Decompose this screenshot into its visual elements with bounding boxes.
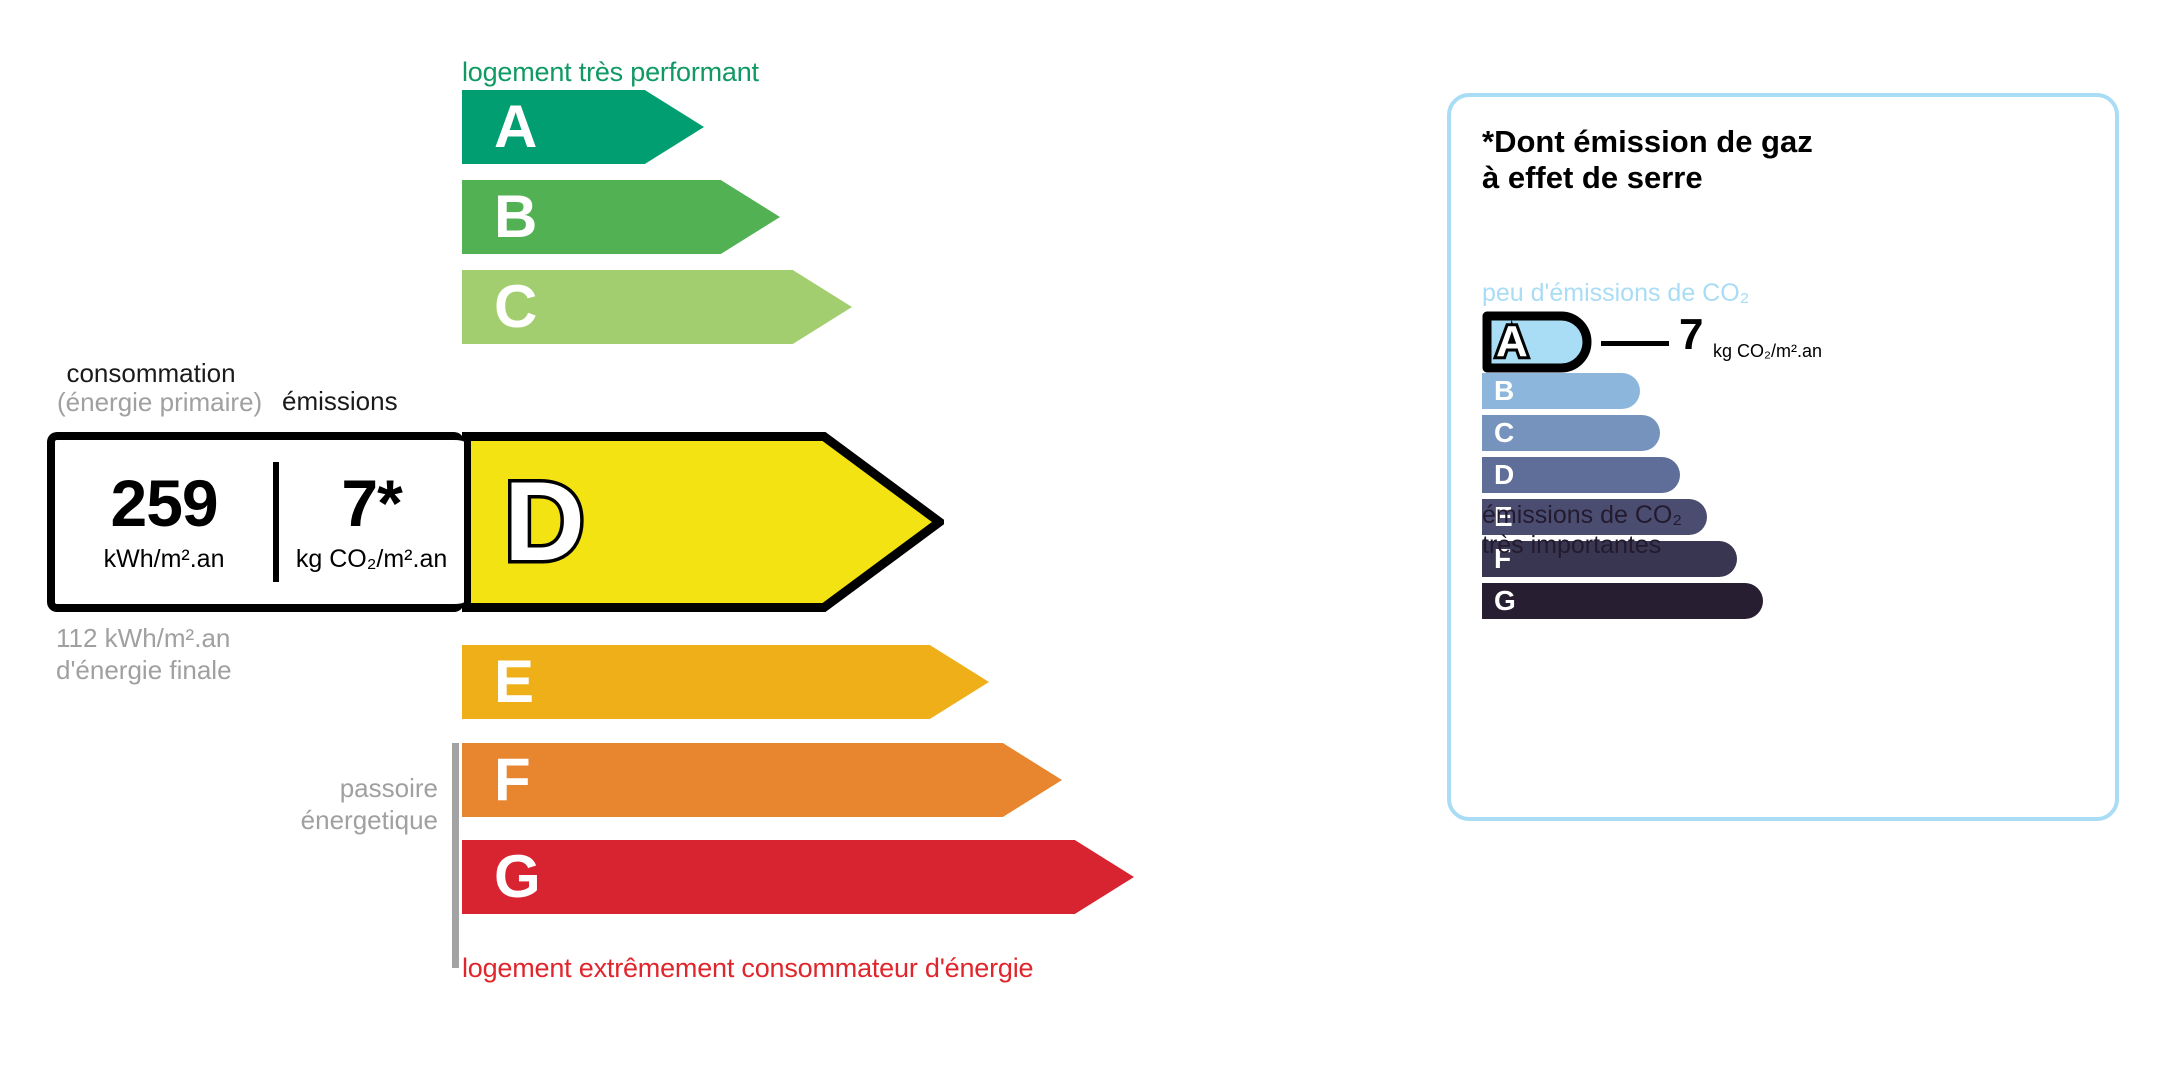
- co2-bar-g: G: [1482, 583, 1763, 619]
- ges-current-unit: kg CO₂/m².an: [1713, 341, 1822, 362]
- ges-caption-bottom: émissions de CO₂très importantes: [1482, 501, 1682, 560]
- co2-bar-letter-g: G: [1494, 587, 1516, 615]
- consumption-value: 259: [111, 470, 218, 536]
- co2-bar-d: D: [1482, 457, 1680, 493]
- consumption-header-sub: (énergie primaire): [57, 388, 245, 417]
- co2-bar-letter-d: D: [1494, 461, 1514, 489]
- consumption-header-main: consommation: [66, 358, 235, 388]
- arrow-letter-e: E: [494, 652, 534, 712]
- emissions-value: 7*: [341, 470, 401, 536]
- emissions-cell: 7* kg CO₂/m².an: [279, 440, 464, 604]
- ges-co2-panel: *Dont émission de gazà effet de serre pe…: [1447, 93, 2119, 821]
- ges-current-value: 7: [1679, 313, 1703, 357]
- arrow-g: [462, 840, 1134, 914]
- arrow-f: [462, 743, 1062, 817]
- ges-panel-title: *Dont émission de gazà effet de serre: [1482, 124, 1813, 196]
- co2-bar-b: B: [1482, 373, 1640, 409]
- consumption-unit: kWh/m².an: [104, 545, 225, 574]
- arrow-letter-b: B: [494, 187, 537, 247]
- consumption-header: consommation (énergie primaire): [57, 359, 245, 417]
- scale-caption-bottom: logement extrêmement consommateur d'éner…: [462, 953, 1033, 984]
- emissions-header: émissions: [282, 387, 398, 416]
- energy-class-row-d: D: [462, 432, 944, 612]
- energy-class-row-a: A: [462, 90, 704, 164]
- arrow-e: [462, 645, 989, 719]
- passoire-label: passoireénergetique: [200, 773, 438, 836]
- ges-current-class-badge: A: [1482, 311, 1592, 373]
- emissions-unit: kg CO₂/m².an: [296, 545, 447, 574]
- co2-bar-letter-c: C: [1494, 419, 1514, 447]
- consumption-value-box: 259 kWh/m².an 7* kg CO₂/m².an: [47, 432, 464, 612]
- arrow-letter-a: A: [494, 97, 537, 157]
- arrow-shape-icon: [462, 840, 1134, 914]
- dpe-energy-scale-panel: logement très performant ABCDEFG 259 kWh…: [0, 0, 1400, 1079]
- energy-class-row-g: G: [462, 840, 1134, 914]
- energy-class-row-f: F: [462, 743, 1062, 817]
- ges-leader-line: [1601, 341, 1669, 346]
- energy-class-row-b: B: [462, 180, 780, 254]
- arrow-letter-c: C: [494, 277, 537, 337]
- arrow-letter-d: D: [504, 466, 585, 578]
- arrow-shape-icon: [462, 645, 989, 719]
- energy-class-row-c: C: [462, 270, 852, 344]
- ges-caption-top: peu d'émissions de CO₂: [1482, 279, 1749, 308]
- passoire-marker-bar: [452, 743, 459, 968]
- co2-bar-letter-b: B: [1494, 377, 1514, 405]
- arrow-letter-f: F: [494, 750, 531, 810]
- energy-class-row-e: E: [462, 645, 989, 719]
- consumption-cell: 259 kWh/m².an: [55, 440, 273, 604]
- ges-current-class-letter: A: [1496, 320, 1528, 364]
- final-energy-note: 112 kWh/m².and'énergie finale: [56, 623, 232, 686]
- co2-bar-c: C: [1482, 415, 1660, 451]
- arrow-shape-icon: [462, 743, 1062, 817]
- scale-caption-top: logement très performant: [462, 57, 759, 88]
- arrow-letter-g: G: [494, 847, 541, 907]
